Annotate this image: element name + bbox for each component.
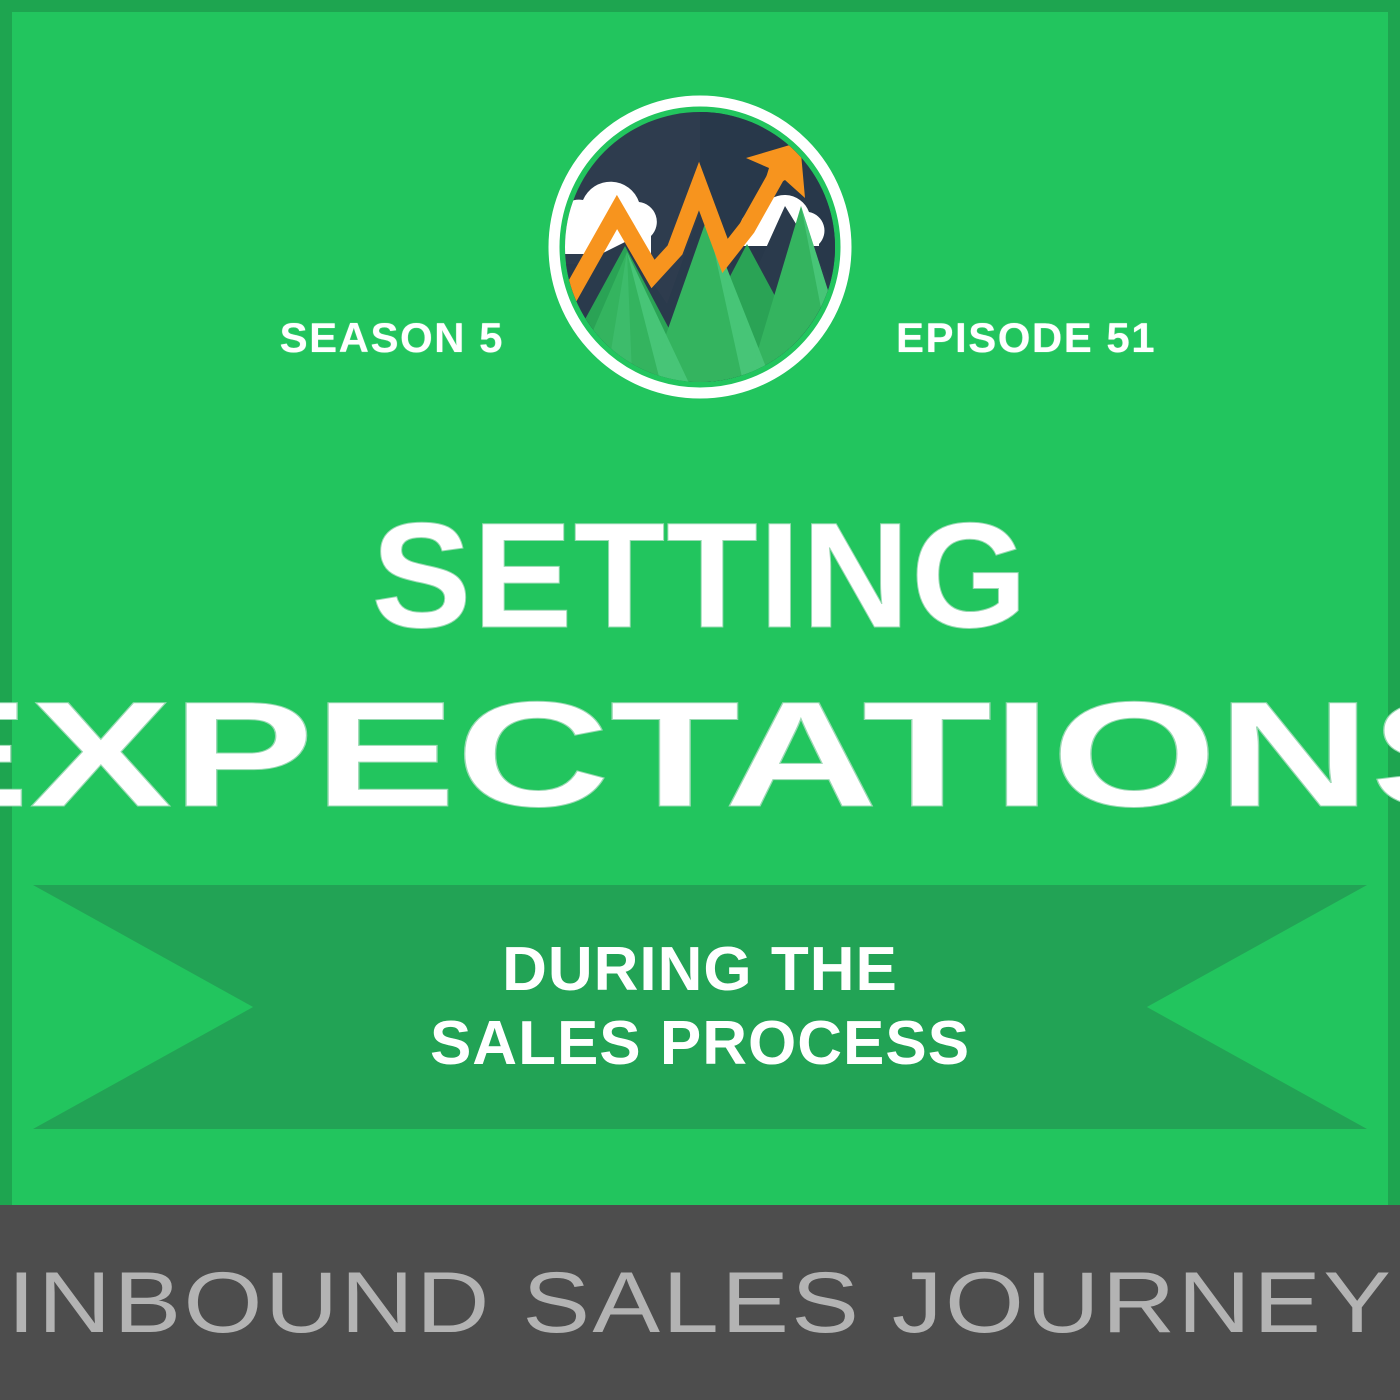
subtitle-ribbon-text: DURING THE SALES PROCESS xyxy=(33,885,1367,1129)
podcast-cover-art: SEASON 5 xyxy=(0,0,1400,1400)
episode-label: EPISODE 51 xyxy=(860,314,1400,362)
season-label: SEASON 5 xyxy=(0,314,540,362)
header-row: SEASON 5 xyxy=(0,86,1400,416)
title-line-1: SETTING xyxy=(0,500,1400,650)
subtitle-line-1: DURING THE xyxy=(502,933,898,1007)
subtitle-line-2: SALES PROCESS xyxy=(430,1007,970,1081)
title-line-2-wrapper: EXPECTATIONS xyxy=(0,674,1400,834)
podcast-logo-badge xyxy=(547,94,853,400)
episode-title: SETTING EXPECTATIONS xyxy=(0,500,1400,834)
brand-bar: INBOUND SALES JOURNEY xyxy=(0,1205,1400,1400)
title-line-2: EXPECTATIONS xyxy=(0,674,1400,834)
podcast-name: INBOUND SALES JOURNEY xyxy=(7,1255,1393,1351)
